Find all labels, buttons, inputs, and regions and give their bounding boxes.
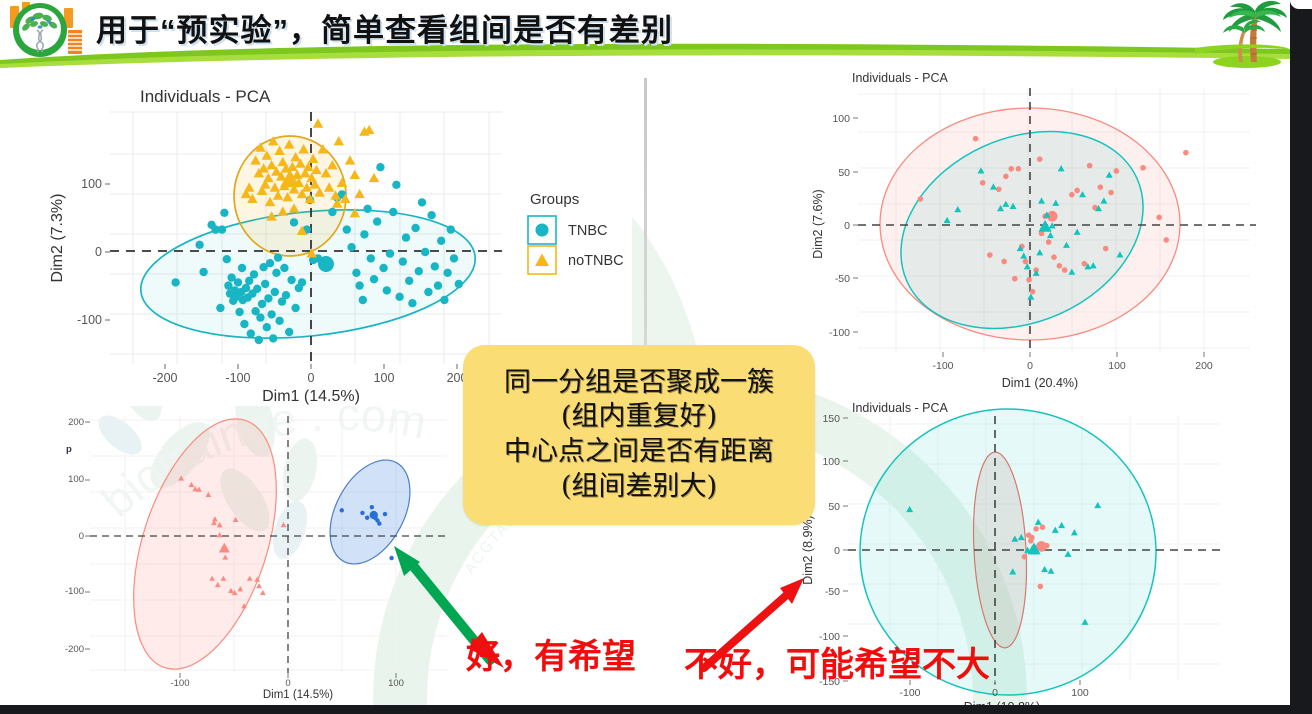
data-point — [250, 270, 258, 278]
data-point — [359, 296, 367, 304]
slide-header: 用于“预实验”，简单查看组间是否有差别 — [0, 0, 1290, 68]
ytick-bl-2: 0 — [79, 531, 84, 542]
window-right-border — [1290, 0, 1312, 714]
data-point — [421, 248, 429, 256]
data-point — [1069, 192, 1075, 198]
data-point — [255, 336, 263, 344]
data-point — [987, 252, 993, 258]
data-point — [343, 225, 351, 233]
data-point — [261, 280, 269, 288]
xtick-br-0: -100 — [899, 687, 920, 699]
xtick-tl-1: -100 — [225, 371, 250, 385]
ytick-br-4: 50 — [828, 501, 840, 513]
data-point — [383, 286, 391, 294]
callout-line-4: (组间差别大) — [561, 470, 717, 505]
data-point — [269, 334, 277, 342]
data-point — [1098, 184, 1104, 190]
ytick-tl-2: 100 — [81, 177, 102, 191]
palm-tree-icon — [1195, 0, 1291, 68]
xtick-bl-2: 100 — [388, 678, 404, 689]
xlabel-tr: Dim1 (20.4%) — [1002, 376, 1078, 390]
data-point — [1108, 190, 1114, 196]
data-point — [1038, 584, 1044, 590]
legend-title-tl: Groups — [530, 191, 579, 208]
chart-title-br: Individuals - PCA — [852, 401, 949, 415]
data-point — [379, 264, 387, 272]
data-point — [373, 217, 381, 225]
data-point — [392, 181, 400, 189]
data-point — [1040, 524, 1046, 530]
data-point — [1030, 289, 1036, 295]
data-point — [298, 278, 306, 286]
data-point — [363, 205, 371, 213]
ytick-tr-2: 0 — [844, 220, 850, 232]
xtick-tl-2: 0 — [308, 371, 315, 385]
data-point — [389, 208, 397, 216]
data-point — [291, 304, 299, 312]
data-point — [365, 516, 369, 520]
ytick-tl-0: -100 — [77, 313, 102, 327]
data-point — [1062, 267, 1068, 273]
data-point — [427, 211, 435, 219]
data-point — [408, 299, 416, 307]
data-point — [240, 320, 248, 328]
annotation-good: 好，有希望 — [466, 640, 636, 674]
data-point — [274, 253, 282, 261]
data-point — [1022, 554, 1028, 560]
data-point — [290, 218, 298, 226]
xtick-tl-3: 100 — [374, 371, 395, 385]
data-point — [1016, 166, 1022, 172]
data-point — [1023, 259, 1029, 265]
data-point — [1026, 277, 1032, 283]
data-point — [447, 225, 455, 233]
ytick-bl-1: -100 — [65, 586, 84, 597]
ytick-tr-4: 100 — [832, 113, 850, 125]
data-point — [1012, 276, 1018, 282]
xtick-tl-0: -200 — [152, 371, 177, 385]
data-point — [235, 308, 243, 316]
data-point — [272, 269, 280, 277]
data-point — [271, 288, 279, 296]
data-point — [399, 257, 407, 265]
data-point — [1183, 150, 1189, 156]
data-point — [340, 508, 344, 512]
ytick-br-1: -100 — [819, 631, 840, 643]
data-point — [223, 255, 231, 263]
callout-line-2: (组内重复好) — [561, 400, 717, 435]
ytick-br-3: 0 — [834, 545, 840, 557]
data-point — [440, 296, 448, 304]
chart-title-tl: Individuals - PCA — [140, 87, 271, 106]
xtick-tr-1: 0 — [1027, 360, 1033, 372]
data-point — [1114, 168, 1120, 174]
data-point — [424, 288, 432, 296]
ytick-tl-1: 0 — [95, 245, 102, 259]
data-point — [171, 278, 179, 286]
panel-divider — [644, 78, 647, 354]
data-point — [275, 317, 283, 325]
legend-label-tnbc: TNBC — [568, 223, 607, 239]
data-point — [218, 225, 226, 233]
window-bottom-border — [0, 705, 1312, 714]
xtick-br-2: 100 — [1071, 687, 1089, 699]
data-point — [431, 262, 439, 270]
data-point — [260, 590, 266, 595]
ytick-bl-3: 100 — [68, 474, 84, 485]
data-point — [1046, 239, 1052, 245]
data-point — [405, 277, 413, 285]
data-point — [973, 136, 979, 142]
data-point — [247, 329, 255, 337]
data-point — [980, 180, 986, 186]
data-point — [455, 280, 463, 288]
data-point — [450, 254, 458, 262]
data-point — [1029, 535, 1035, 541]
ylabel-tr: Dim2 (7.6%) — [811, 189, 825, 258]
data-point — [386, 249, 394, 257]
xtick-bl-0: -100 — [170, 678, 189, 689]
data-point — [437, 237, 445, 245]
data-point — [1103, 246, 1109, 252]
data-point — [253, 285, 261, 293]
data-point — [1008, 166, 1014, 172]
biotrainee-logo-icon — [2, 0, 88, 62]
xtick-br-1: 0 — [992, 687, 998, 699]
data-point — [263, 323, 271, 331]
xtick-bl-1: 0 — [285, 678, 290, 689]
ytick-tr-1: -50 — [835, 273, 850, 285]
data-point — [328, 208, 336, 216]
data-point — [238, 264, 246, 272]
data-point — [443, 269, 451, 277]
data-point — [285, 328, 293, 336]
data-point — [242, 284, 250, 292]
data-point — [256, 583, 262, 588]
data-point — [355, 281, 363, 289]
data-point — [1074, 188, 1080, 194]
data-point — [234, 278, 242, 286]
ytick-tr-3: 50 — [838, 167, 850, 179]
data-point — [411, 224, 419, 232]
data-point — [216, 304, 224, 312]
data-point — [256, 313, 264, 321]
data-point — [402, 233, 410, 241]
data-point — [918, 196, 924, 202]
data-point — [1087, 163, 1093, 169]
data-point — [377, 521, 381, 525]
data-point — [1081, 261, 1087, 267]
data-point — [418, 198, 426, 206]
callout-line-3: 中心点之间是否有距离 — [504, 435, 774, 470]
data-point — [367, 254, 375, 262]
data-point — [1156, 215, 1162, 221]
data-point — [1163, 237, 1169, 243]
data-point — [280, 264, 288, 272]
ytick-bl-4: 200 — [68, 417, 84, 428]
data-point — [1033, 526, 1039, 532]
group-centroid — [318, 256, 334, 272]
data-point — [370, 505, 374, 509]
data-point — [360, 230, 368, 238]
xlabel-bl: Dim1 (14.5%) — [263, 689, 333, 701]
data-point — [352, 269, 360, 277]
data-point — [220, 209, 228, 217]
data-point — [1140, 165, 1146, 171]
data-point — [415, 267, 423, 275]
data-point — [383, 512, 387, 516]
chart-top-right: Individuals - PCA -100 0 100 200 -100 -5… — [800, 64, 1270, 394]
data-point — [287, 276, 295, 284]
data-point — [195, 241, 203, 249]
data-point — [996, 186, 1002, 192]
data-point — [266, 259, 274, 267]
data-point — [281, 522, 287, 527]
group-centroid — [370, 511, 378, 519]
data-point — [1051, 254, 1057, 260]
data-point — [1037, 156, 1043, 162]
callout-line-1: 同一分组是否聚成一簇 — [504, 366, 774, 401]
ytick-br-6: 150 — [822, 413, 840, 425]
data-point — [258, 300, 266, 308]
data-point — [1057, 263, 1063, 269]
xtick-tr-3: 200 — [1195, 360, 1213, 372]
data-point — [199, 268, 207, 276]
callout-box: 同一分组是否聚成一簇 (组内重复好) 中心点之间是否有距离 (组间差别大) — [463, 345, 815, 525]
xtick-tr-2: 100 — [1108, 360, 1126, 372]
data-point — [1001, 259, 1007, 265]
data-point — [347, 243, 355, 251]
data-point — [434, 281, 442, 289]
data-point — [370, 275, 378, 283]
data-point — [395, 293, 403, 301]
ytick-br-2: -50 — [825, 586, 840, 598]
legend-label-notnbc: noTNBC — [568, 253, 624, 269]
ylabel-tl: Dim2 (7.3%) — [49, 194, 66, 283]
data-point — [267, 310, 275, 318]
data-point — [264, 294, 272, 302]
annotation-bad: 不好，可能希望不大 — [684, 648, 990, 682]
chart-title-tr: Individuals - PCA — [852, 71, 949, 85]
ytick-br-5: 100 — [822, 456, 840, 468]
data-point — [360, 511, 364, 515]
page-title: 用于“预实验”，简单查看组间是否有差别 — [96, 6, 1096, 56]
data-point — [1003, 174, 1009, 180]
data-point — [376, 163, 384, 171]
data-point — [282, 291, 290, 299]
slide-canvas: 能 力 biotrainee . com ACGTACG 1010101 — [0, 0, 1312, 714]
ylabel-bl: p — [66, 444, 72, 455]
ytick-bl-0: -200 — [65, 644, 84, 655]
xtick-tr-0: -100 — [932, 360, 953, 372]
ytick-tr-0: -100 — [829, 327, 850, 339]
